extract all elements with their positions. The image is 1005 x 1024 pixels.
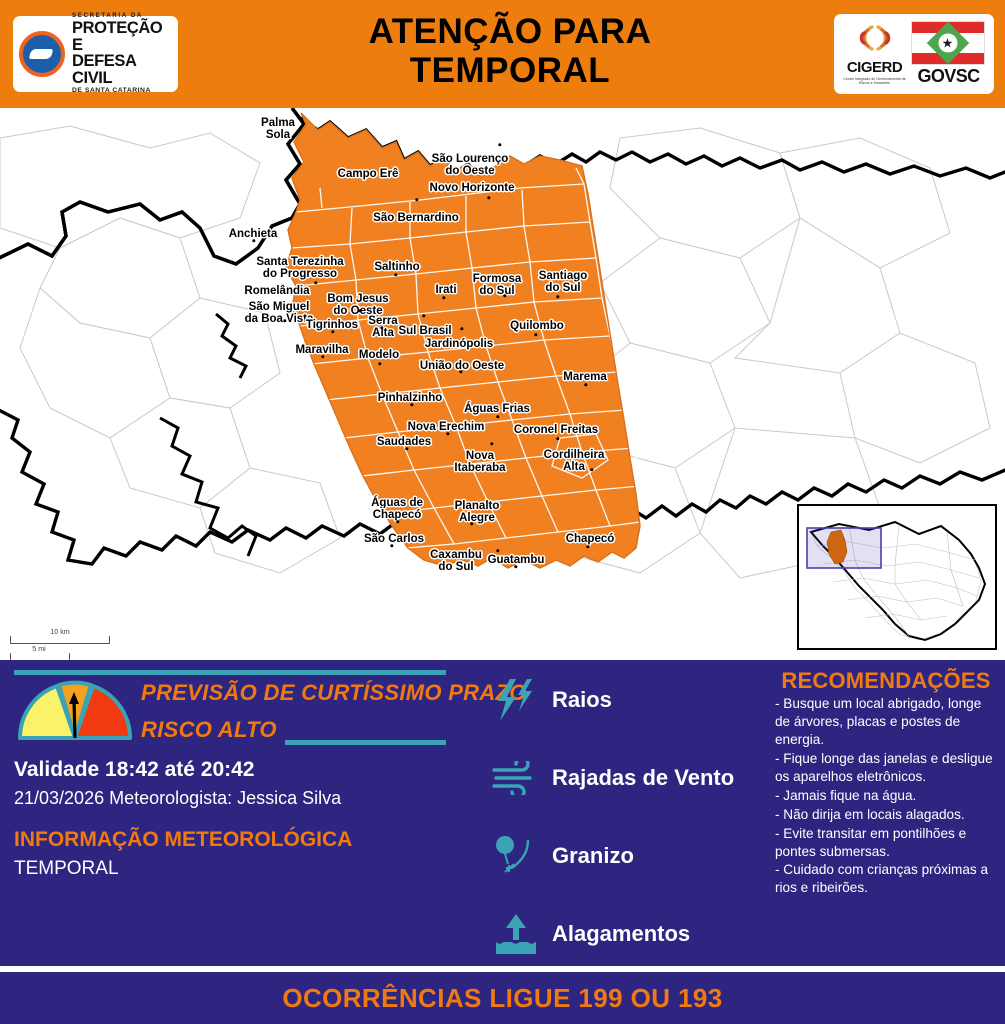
hazard-label-raios: Raios (552, 687, 612, 713)
govsc-prefix: GOV (917, 66, 955, 86)
city-label: Saltinho (374, 261, 419, 273)
city-label: Novo Horizonte (430, 182, 515, 194)
city-label: Bom Jesus do Oeste (327, 293, 388, 317)
alert-title-line2: TEMPORAL (200, 51, 820, 90)
city-label: Águas de Chapecó (371, 497, 423, 521)
city-label: Nova Itaberaba (454, 450, 505, 474)
city-label: Romelândia (244, 285, 309, 297)
govsc-wordmark: GOVSC (911, 66, 987, 87)
city-label: Caxambu do Sul (430, 549, 482, 573)
map-scale-bar: 10 km 5 mi (10, 627, 110, 660)
weather-info-body: TEMPORAL (14, 858, 119, 880)
defesa-civil-shield-icon (19, 31, 65, 77)
scale-km: 10 km (10, 627, 110, 636)
govsc-logo: ★ GOVSC (911, 21, 987, 87)
emergency-phone-text: OCORRÊNCIAS LIGUE 199 OU 193 (282, 983, 722, 1014)
city-label: Planalto Alegre (455, 500, 500, 524)
city-label: Pinhalzinho (378, 392, 443, 404)
risk-gauge (14, 678, 136, 742)
city-label: São Lourenço do Oeste (432, 153, 509, 177)
city-label: São Bernardino (373, 212, 459, 224)
city-label: Palma Sola (261, 117, 295, 141)
inset-graphic (799, 506, 995, 648)
hazard-item-vento: Rajadas de Vento (488, 750, 758, 806)
city-label: Tigrinhos (306, 319, 358, 331)
logo-line-santa-catarina: DE SANTA CATARINA (72, 88, 172, 95)
city-label: Nova Erechim (408, 421, 485, 433)
divider-risk (285, 740, 446, 745)
recommendation-item: - Não dirija em locais alagados. (775, 806, 997, 824)
risk-level-label: RISCO ALTO (141, 717, 277, 743)
divider-top (14, 670, 446, 675)
city-label: Irati (435, 284, 456, 296)
weather-info-heading: INFORMAÇÃO METEOROLÓGICA (14, 828, 352, 852)
city-label: Maravilha (295, 344, 348, 356)
city-label: Marema (563, 371, 606, 383)
recommendations-list: - Busque um local abrigado, longe de árv… (775, 695, 997, 897)
santa-catarina-flag-icon: ★ (911, 21, 985, 65)
city-label: Anchieta (229, 228, 278, 240)
alert-map[interactable]: Palma SolaCampo ErêSão Lourenço do Oeste… (0, 108, 1005, 660)
govsc-suffix: SC (956, 66, 980, 86)
recommendation-item: - Jamais fique na água. (775, 787, 997, 805)
recommendation-item: - Evite transitar em pontilhões e pontes… (775, 825, 997, 861)
city-label: Saudades (377, 436, 431, 448)
locator-inset-map[interactable] (797, 504, 997, 650)
defesa-civil-logo: SECRETARIA DA PROTEÇÃO E DEFESA CIVIL DE… (13, 16, 178, 92)
cigerd-name: CIGERD (842, 60, 908, 75)
recommendation-item: - Busque um local abrigado, longe de árv… (775, 695, 997, 749)
city-label: Guatambu (488, 554, 545, 566)
date-meteorologist-text: 21/03/2026 Meteorologista: Jessica Silva (14, 788, 341, 809)
logo-line-defesa-civil: DEFESA CIVIL (72, 53, 172, 86)
city-label: Santa Terezinha do Progresso (256, 256, 343, 280)
scale-mi: 5 mi (10, 644, 68, 653)
city-label: Cordilheira Alta (544, 449, 605, 473)
cigerd-subtitle: Centro Integrado de Gerenciamento de Ris… (842, 77, 908, 86)
recommendations-title: RECOMENDAÇÕES (775, 668, 997, 694)
alert-title-line1: ATENÇÃO PARA (200, 12, 820, 51)
city-label: Formosa do Sul (473, 273, 522, 297)
recommendations-block: RECOMENDAÇÕES - Busque um local abrigado… (775, 668, 997, 897)
city-label: Águas Frias (464, 403, 530, 415)
city-label: Jardinópolis (425, 338, 493, 350)
city-label: São Carlos (364, 533, 424, 545)
city-label: Quilombo (510, 320, 564, 332)
wind-gust-icon (488, 750, 544, 806)
validity-text: Validade 18:42 até 20:42 (14, 758, 255, 782)
cigerd-logo: CIGERD Centro Integrado de Gerenciamento… (842, 23, 908, 86)
hazard-item-raios: Raios (488, 672, 758, 728)
city-label: Campo Erê (338, 168, 399, 180)
hazard-label-vento: Rajadas de Vento (552, 765, 734, 791)
hazard-item-alagamentos: Alagamentos (488, 906, 758, 962)
city-label: Coronel Freitas (514, 424, 598, 436)
logo-line-protecao: PROTEÇÃO E (72, 20, 172, 53)
info-panel: PREVISÃO DE CURTÍSSIMO PRAZO RISCO ALTO … (0, 660, 1005, 966)
hazard-item-granizo: Granizo (488, 828, 758, 884)
recommendation-item: - Fique longe das janelas e desligue os … (775, 750, 997, 786)
emergency-footer: OCORRÊNCIAS LIGUE 199 OU 193 (0, 972, 1005, 1024)
recommendation-item: - Cuidado com crianças próximas a rios e… (775, 861, 997, 897)
city-label: São Miguel da Boa Vista (245, 301, 314, 325)
city-label: Sul Brasil (398, 325, 451, 337)
city-label: Chapecó (566, 533, 615, 545)
city-label: Modelo (359, 349, 399, 361)
government-logos: CIGERD Centro Integrado de Gerenciamento… (834, 14, 994, 94)
flood-icon (488, 906, 544, 962)
forecast-label: PREVISÃO DE CURTÍSSIMO PRAZO (141, 680, 527, 706)
hazard-label-granizo: Granizo (552, 843, 634, 869)
cigerd-waves-icon (852, 23, 898, 53)
alert-title: ATENÇÃO PARA TEMPORAL (200, 12, 820, 90)
header-banner: SECRETARIA DA PROTEÇÃO E DEFESA CIVIL DE… (0, 0, 1005, 108)
lightning-icon (488, 672, 544, 728)
hail-icon (488, 828, 544, 884)
hazard-label-alagamentos: Alagamentos (552, 921, 690, 947)
city-label: Santiago do Sul (539, 270, 588, 294)
